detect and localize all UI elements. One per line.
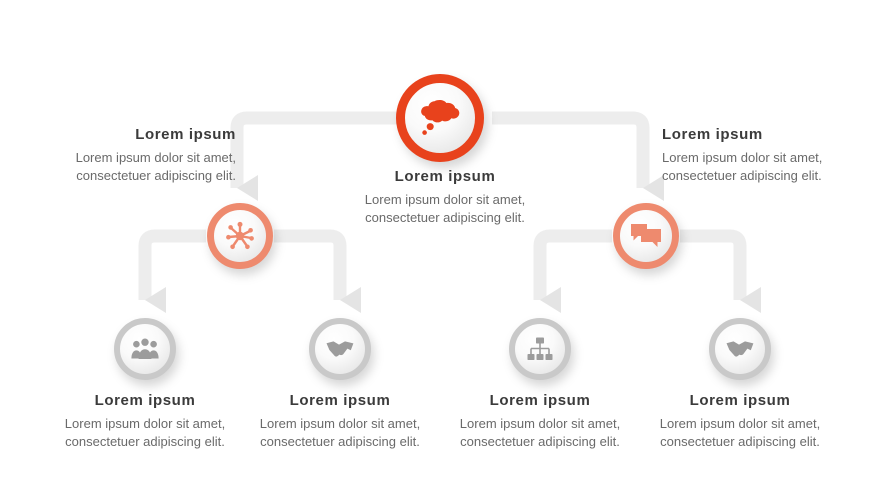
connector-branch-right-to-leaf-4 (680, 236, 740, 300)
text-block-leaf-1: Lorem ipsum Lorem ipsum dolor sit amet, … (50, 392, 240, 452)
leaf-3-title: Lorem ipsum (445, 392, 635, 411)
leaf-4-title: Lorem ipsum (645, 392, 835, 411)
thought-bubble-icon (420, 99, 460, 137)
text-block-leaf-4: Lorem ipsum Lorem ipsum dolor sit amet, … (645, 392, 835, 452)
handshake-icon (326, 340, 354, 358)
connector-branch-left-to-leaf-1 (145, 236, 206, 300)
handshake-icon (726, 340, 754, 358)
leaf-1-title: Lorem ipsum (50, 392, 240, 411)
node-root[interactable] (396, 74, 484, 162)
node-leaf-4[interactable] (709, 318, 771, 380)
node-branch-right[interactable] (613, 203, 679, 269)
root-body: Lorem ipsum dolor sit amet, consectetuer… (340, 191, 550, 228)
text-block-root: Lorem ipsum Lorem ipsum dolor sit amet, … (340, 168, 550, 228)
connector-branch-left-to-leaf-2 (274, 236, 340, 300)
network-hub-icon (225, 221, 255, 251)
leaf-4-body: Lorem ipsum dolor sit amet, consectetuer… (645, 415, 835, 452)
text-block-branch-right: Lorem ipsum Lorem ipsum dolor sit amet, … (662, 126, 848, 186)
text-block-leaf-3: Lorem ipsum Lorem ipsum dolor sit amet, … (445, 392, 635, 452)
people-group-icon (131, 338, 159, 360)
leaf-2-body: Lorem ipsum dolor sit amet, consectetuer… (245, 415, 435, 452)
leaf-1-body: Lorem ipsum dolor sit amet, consectetuer… (50, 415, 240, 452)
connector-branch-right-to-leaf-3 (540, 236, 612, 300)
root-title: Lorem ipsum (340, 168, 550, 187)
branch-right-title: Lorem ipsum (662, 126, 848, 145)
org-chart-icon (527, 337, 553, 361)
branch-left-body: Lorem ipsum dolor sit amet, consectetuer… (50, 149, 236, 186)
node-leaf-2[interactable] (309, 318, 371, 380)
text-block-leaf-2: Lorem ipsum Lorem ipsum dolor sit amet, … (245, 392, 435, 452)
text-block-branch-left: Lorem ipsum Lorem ipsum dolor sit amet, … (50, 126, 236, 186)
chat-bubbles-icon (630, 223, 662, 249)
node-leaf-3[interactable] (509, 318, 571, 380)
branch-left-title: Lorem ipsum (50, 126, 236, 145)
node-leaf-1[interactable] (114, 318, 176, 380)
infographic-canvas: Lorem ipsum Lorem ipsum dolor sit amet, … (0, 0, 870, 489)
leaf-3-body: Lorem ipsum dolor sit amet, consectetuer… (445, 415, 635, 452)
node-branch-left[interactable] (207, 203, 273, 269)
leaf-2-title: Lorem ipsum (245, 392, 435, 411)
branch-right-body: Lorem ipsum dolor sit amet, consectetuer… (662, 149, 848, 186)
